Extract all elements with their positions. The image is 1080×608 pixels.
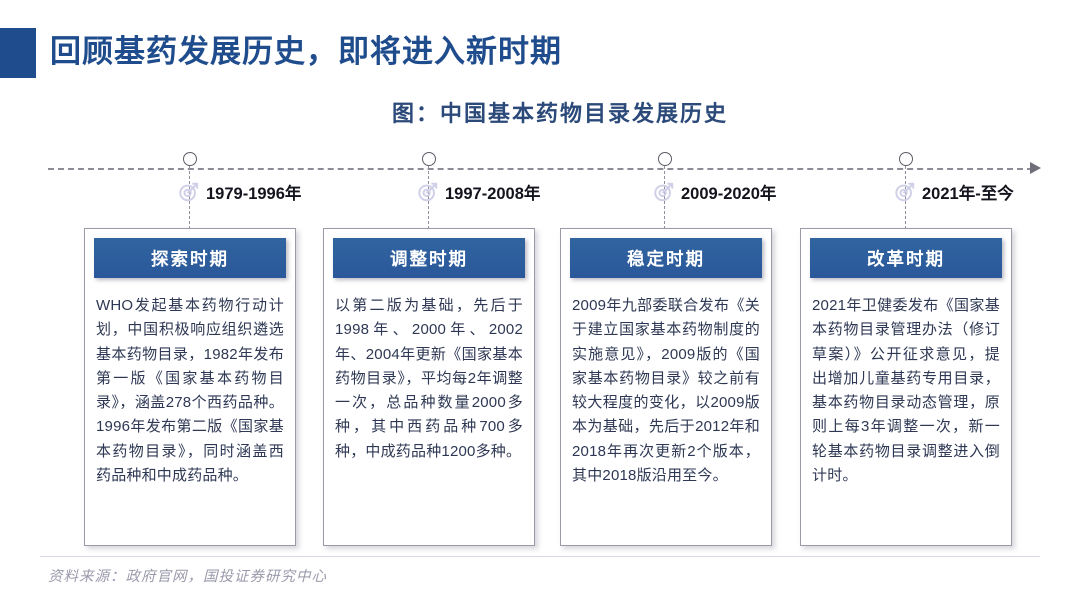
- title-accent-square: [0, 28, 36, 78]
- phase-card-4-header: 改革时期: [810, 238, 1002, 278]
- phase-card-4[interactable]: 改革时期 2021年卫健委发布《国家基本药物目录管理办法（修订草案）》公开征求意…: [800, 228, 1012, 546]
- dart-target-icon: [894, 181, 916, 203]
- slide-header: 回顾基药发展历史，即将进入新时期: [0, 28, 1080, 82]
- phase-card-4-body: 2021年卫健委发布《国家基本药物目录管理办法（修订草案）》公开征求意见，提出增…: [801, 278, 1011, 498]
- phase-card-3-header: 稳定时期: [570, 238, 762, 278]
- dart-target-icon: [417, 181, 439, 203]
- timeline-label-3: 2009-2020年: [653, 180, 776, 204]
- circle-marker-icon: [899, 152, 913, 166]
- footer-divider: [40, 556, 1040, 557]
- phase-card-1-header: 探索时期: [94, 238, 286, 278]
- timeline: 1979-1996年 1997-2008年 2009-2020年: [0, 150, 1080, 230]
- timeline-axis-line: [48, 168, 1033, 170]
- timeline-label-1: 1979-1996年: [178, 180, 301, 204]
- chart-caption: 图：中国基本药物目录发展历史: [0, 96, 1080, 128]
- timeline-label-4: 2021年-至今: [894, 180, 1014, 204]
- phase-card-2-body: 以第二版为基础，先后于1998年、2000年、2002年、2004年更新《国家基…: [324, 278, 534, 474]
- phase-card-3-title: 稳定时期: [627, 246, 705, 271]
- timeline-label-3-text: 2009-2020年: [681, 180, 776, 204]
- phase-card-3[interactable]: 稳定时期 2009年九部委联合发布《关于建立国家基本药物制度的实施意见》，200…: [560, 228, 772, 546]
- phase-card-1-body: WHO发起基本药物行动计划，中国积极响应组织遴选基本药物目录，1982年发布第一…: [85, 278, 295, 498]
- phase-card-4-title: 改革时期: [867, 246, 945, 271]
- timeline-label-4-text: 2021年-至今: [922, 180, 1014, 204]
- phase-card-3-body: 2009年九部委联合发布《关于建立国家基本药物制度的实施意见》，2009版的《国…: [561, 278, 771, 498]
- phase-card-2-title: 调整时期: [390, 246, 468, 271]
- circle-marker-icon: [422, 152, 436, 166]
- timeline-label-2-text: 1997-2008年: [445, 180, 540, 204]
- timeline-label-1-text: 1979-1996年: [206, 180, 301, 204]
- dart-target-icon: [653, 181, 675, 203]
- page-title: 回顾基药发展历史，即将进入新时期: [50, 26, 562, 71]
- source-note: 资料来源：政府官网，国投证券研究中心: [48, 565, 327, 586]
- phase-card-2-header: 调整时期: [333, 238, 525, 278]
- circle-marker-icon: [658, 152, 672, 166]
- timeline-label-2: 1997-2008年: [417, 180, 540, 204]
- dart-target-icon: [178, 181, 200, 203]
- phase-card-2[interactable]: 调整时期 以第二版为基础，先后于1998年、2000年、2002年、2004年更…: [323, 228, 535, 546]
- arrow-right-icon: [1030, 162, 1041, 174]
- phase-card-1[interactable]: 探索时期 WHO发起基本药物行动计划，中国积极响应组织遴选基本药物目录，1982…: [84, 228, 296, 546]
- phase-card-1-title: 探索时期: [151, 246, 229, 271]
- circle-marker-icon: [183, 152, 197, 166]
